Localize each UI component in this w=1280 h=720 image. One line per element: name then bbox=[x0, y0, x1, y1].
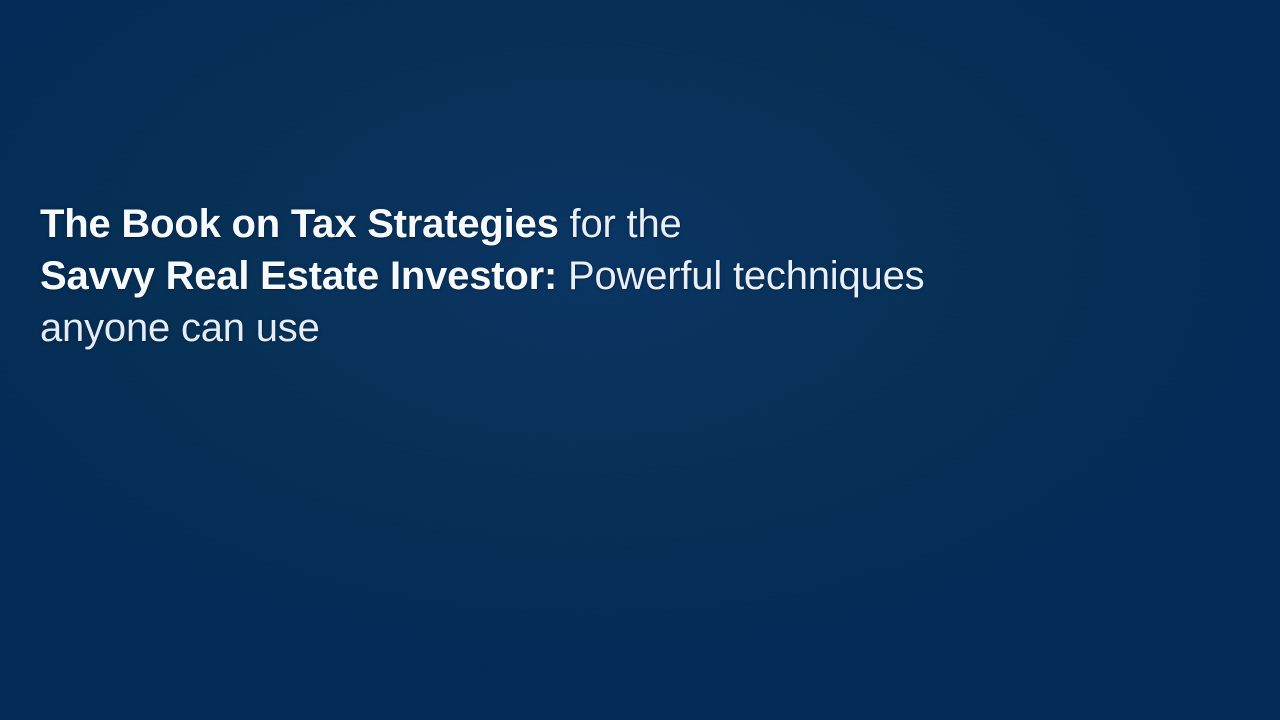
title-card-canvas: The Book on Tax Strategies for the Savvy… bbox=[0, 0, 1280, 720]
book-title-block: The Book on Tax Strategies for the Savvy… bbox=[40, 198, 1240, 354]
title-line-3: anyone can use bbox=[40, 302, 1240, 354]
title-line-3-light-segment: anyone can use bbox=[40, 306, 320, 350]
background-texture-overlay bbox=[0, 0, 1280, 720]
title-line-2: Savvy Real Estate Investor: Powerful tec… bbox=[40, 250, 1240, 302]
title-line-1: The Book on Tax Strategies for the bbox=[40, 198, 1240, 250]
title-line-2-regular-segment: Powerful techniques bbox=[568, 254, 924, 298]
title-line-1-bold-segment: The Book on Tax Strategies bbox=[40, 202, 570, 246]
title-line-1-regular-segment: for the bbox=[570, 202, 682, 246]
title-line-2-bold-segment: Savvy Real Estate Investor: bbox=[40, 254, 568, 298]
